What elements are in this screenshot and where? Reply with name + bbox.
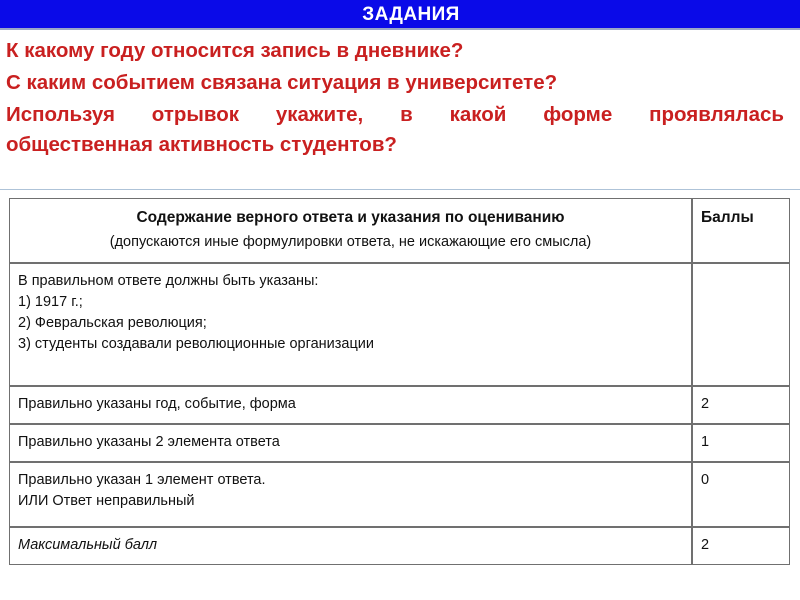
row-line: Правильно указан 1 элемент ответа.	[18, 470, 683, 491]
question-item-1: К какому году относится запись в дневник…	[6, 36, 794, 66]
table-header-subtitle: (допускаются иные формулировки ответа, н…	[20, 232, 681, 253]
question-item-3: Используя отрывок укажите, в какой форме…	[6, 100, 784, 160]
table-header-description-cell: Содержание верного ответа и указания по …	[9, 198, 692, 263]
table-row: Максимальный балл 2	[9, 527, 790, 565]
row-line: В правильном ответе должны быть указаны:	[18, 271, 683, 292]
table-cell-points: 1	[692, 424, 790, 462]
horizontal-divider	[0, 189, 800, 190]
table-cell-description: Правильно указан 1 элемент ответа. ИЛИ О…	[9, 462, 692, 527]
row-line: 2) Февральская революция;	[18, 313, 683, 334]
row-line: Правильно указаны 2 элемента ответа	[18, 432, 683, 453]
table-body: Содержание верного ответа и указания по …	[9, 198, 790, 565]
table-row: В правильном ответе должны быть указаны:…	[9, 263, 790, 386]
row-line: 3) студенты создавали революционные орга…	[18, 334, 683, 355]
table-cell-points: 0	[692, 462, 790, 527]
row-line: Правильно указаны год, событие, форма	[18, 394, 683, 415]
table-header-points-cell: Баллы	[692, 198, 790, 263]
question-item-3-line-2: общественная активность студентов?	[6, 130, 784, 160]
table-header-title: Содержание верного ответа и указания по …	[20, 207, 681, 229]
table-cell-description: Максимальный балл	[9, 527, 692, 565]
page-title: ЗАДАНИЯ	[0, 3, 800, 26]
questions-section: К какому году относится запись в дневник…	[6, 36, 794, 162]
table-row: Правильно указаны 2 элемента ответа 1	[9, 424, 790, 462]
table-cell-description: В правильном ответе должны быть указаны:…	[9, 263, 692, 386]
row-line: Максимальный балл	[18, 535, 683, 556]
table-header-row: Содержание верного ответа и указания по …	[9, 198, 790, 263]
row-line: ИЛИ Ответ неправильный	[18, 491, 683, 512]
question-item-3-line-1: Используя отрывок укажите, в какой форме…	[6, 100, 784, 130]
table-row: Правильно указаны год, событие, форма 2	[9, 386, 790, 424]
table-row: Правильно указан 1 элемент ответа. ИЛИ О…	[9, 462, 790, 527]
table-cell-points: 2	[692, 527, 790, 565]
page-header-banner: ЗАДАНИЯ	[0, 0, 800, 30]
table-cell-description: Правильно указаны год, событие, форма	[9, 386, 692, 424]
table-cell-points: 2	[692, 386, 790, 424]
row-line: 1) 1917 г.;	[18, 292, 683, 313]
question-item-2: С каким событием связана ситуация в унив…	[6, 68, 794, 98]
table-cell-description: Правильно указаны 2 элемента ответа	[9, 424, 692, 462]
table-cell-points	[692, 263, 790, 386]
scoring-criteria-table: Содержание верного ответа и указания по …	[9, 198, 790, 565]
